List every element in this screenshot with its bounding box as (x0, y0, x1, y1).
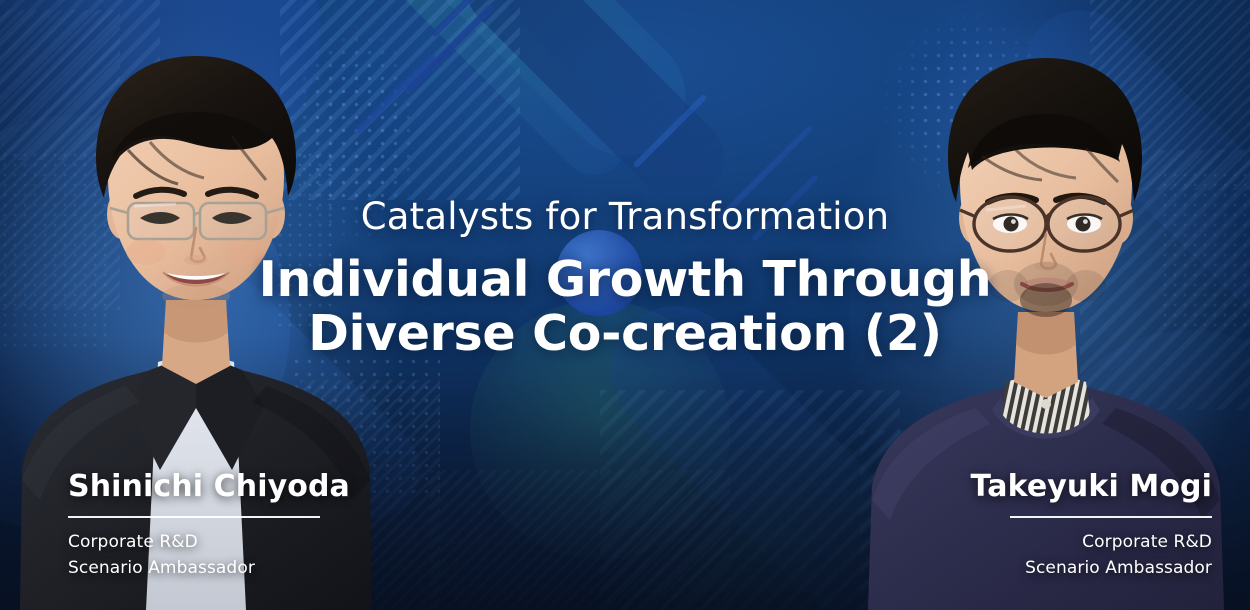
person-role-right-line-1: Corporate R&D (912, 530, 1212, 556)
headline-block: Catalysts for Transformation Individual … (0, 196, 1250, 362)
banner-root: Catalysts for Transformation Individual … (0, 0, 1250, 610)
person-card-left: Shinichi Chiyoda Corporate R&D Scenario … (68, 470, 368, 582)
person-role-right: Corporate R&D Scenario Ambassador (912, 530, 1212, 582)
person-card-right: Takeyuki Mogi Corporate R&D Scenario Amb… (912, 470, 1212, 582)
background-stripes-bottom-center-2 (430, 470, 730, 610)
person-name-right: Takeyuki Mogi (912, 470, 1212, 503)
headline-text: Individual Growth Through Diverse Co-cre… (0, 253, 1250, 363)
person-role-left: Corporate R&D Scenario Ambassador (68, 530, 368, 582)
headline-line-2: Diverse Co-creation (2) (0, 307, 1250, 362)
person-name-divider-right (1010, 516, 1212, 518)
person-role-left-line-2: Scenario Ambassador (68, 556, 368, 582)
person-name-divider-left (68, 516, 320, 518)
kicker-text: Catalysts for Transformation (0, 196, 1250, 239)
headline-line-1: Individual Growth Through (0, 253, 1250, 308)
person-name-left: Shinichi Chiyoda (68, 470, 368, 503)
person-role-right-line-2: Scenario Ambassador (912, 556, 1212, 582)
person-role-left-line-1: Corporate R&D (68, 530, 368, 556)
